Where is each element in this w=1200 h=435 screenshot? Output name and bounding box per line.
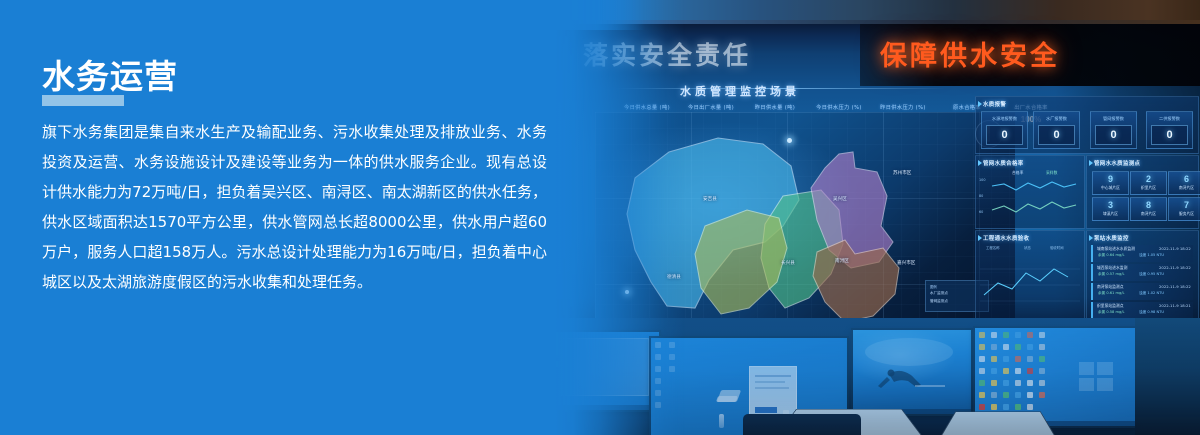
log-value-1: 余氯 0.57 mg/L bbox=[1098, 272, 1124, 277]
alarm-value: 0 bbox=[1038, 125, 1075, 145]
pass-rate-line-chart bbox=[990, 176, 1080, 224]
log-timestamp: 2022-11-9 18:22 bbox=[1159, 246, 1191, 251]
desktop-icon[interactable] bbox=[669, 342, 675, 348]
alarm-value: 0 bbox=[986, 125, 1023, 145]
kpi-label: 今日出厂水量 (吨) bbox=[674, 104, 748, 111]
map-district-nanxun[interactable] bbox=[803, 230, 918, 320]
kpi-label: 今日供水总量 (吨) bbox=[610, 104, 684, 111]
log-title: 城南泵站进水水质监测 bbox=[1097, 246, 1135, 252]
desktop-icon[interactable] bbox=[655, 402, 661, 408]
panel-title: 管网水水质监测点 bbox=[1094, 159, 1140, 167]
alarm-value: 0 bbox=[1095, 125, 1132, 145]
alarm-card[interactable]: 水源地报警数 0 bbox=[981, 111, 1028, 149]
log-title: 城西泵站进水监测 bbox=[1097, 265, 1127, 271]
chart-axis-tick: 60 bbox=[979, 210, 983, 214]
kpi-label: 昨日供水压力 (%) bbox=[866, 104, 940, 111]
map-label-anji: 安吉县 bbox=[703, 196, 717, 202]
panel-title: 管网水质合格率 bbox=[983, 159, 1024, 167]
log-timestamp: 2022-11-9 18:22 bbox=[1159, 284, 1191, 289]
intro-text-block: 水务运营 旗下水务集团是集自来水生产及输配业务、污水收集处理及排放业务、水务投资… bbox=[0, 0, 580, 435]
desktop-icon[interactable] bbox=[669, 366, 675, 372]
monitor-underwater[interactable] bbox=[851, 328, 973, 416]
desktop-icon-folder[interactable] bbox=[979, 392, 985, 398]
log-value-1: 余氯 0.64 mg/L bbox=[1098, 253, 1124, 258]
desktop-icon[interactable] bbox=[1003, 404, 1009, 410]
water-operations-banner: 落实安全责任 保障供水安全 水质管理监控场景 今日供水总量 (吨) 今日出厂水量… bbox=[0, 0, 1200, 435]
table-column-header: 工程名称 bbox=[986, 245, 1000, 250]
desktop-icon[interactable] bbox=[1027, 356, 1033, 362]
desktop-icon[interactable] bbox=[1015, 392, 1021, 398]
map-label-nanxun: 南浔区 bbox=[835, 258, 849, 264]
desktop-icon[interactable] bbox=[1039, 380, 1045, 386]
map-label-wuxing: 吴兴区 bbox=[833, 196, 847, 202]
log-timestamp: 2022-11-9 18:22 bbox=[1159, 265, 1191, 270]
right-dark-wall bbox=[1135, 318, 1200, 435]
monitor-point-label: 服务片区 bbox=[1169, 211, 1200, 217]
desktop-icon[interactable] bbox=[669, 354, 675, 360]
panel-pass-rate[interactable]: 管网水质合格率 合格率 采样数 100 80 60 bbox=[975, 155, 1085, 229]
panel-arrow-icon bbox=[978, 235, 982, 241]
desktop-icon[interactable] bbox=[1015, 356, 1021, 362]
desktop-icon[interactable] bbox=[991, 368, 997, 374]
desktop-icon[interactable] bbox=[1003, 392, 1009, 398]
desktop-icon[interactable] bbox=[1027, 404, 1033, 410]
panel-arrow-icon bbox=[1089, 235, 1093, 241]
slogan-left: 落实安全责任 bbox=[583, 36, 751, 72]
control-room-photo: 落实安全责任 保障供水安全 水质管理监控场景 今日供水总量 (吨) 今日出厂水量… bbox=[555, 0, 1200, 435]
dialog-line bbox=[755, 375, 791, 377]
map-highlight-dot bbox=[787, 138, 792, 143]
operator-desk-row bbox=[555, 318, 1200, 435]
monitor-point-cell[interactable]: 2 织里片区 bbox=[1130, 171, 1167, 195]
desktop-icon[interactable] bbox=[1039, 332, 1045, 338]
alarm-label: 二供报警数 bbox=[1147, 116, 1192, 122]
monitor-point-label: 织里片区 bbox=[1131, 185, 1166, 191]
panel-water-quality-alarm[interactable]: 水质报警 水源地报警数 0 水厂报警数 0 管网报警数 0 二供报警数 bbox=[975, 96, 1199, 154]
log-value-1: 余氯 0.58 mg/L bbox=[1098, 310, 1124, 315]
map-highlight-dot bbox=[625, 290, 629, 294]
alarm-label: 水厂报警数 bbox=[1034, 116, 1079, 122]
screen-caption-line bbox=[915, 385, 945, 387]
desktop-icon[interactable] bbox=[991, 332, 997, 338]
chart-axis-tick: 100 bbox=[979, 178, 985, 182]
panel-title: 泵站水质监控 bbox=[1094, 234, 1129, 242]
title-underline bbox=[42, 95, 124, 106]
monitor-point-cell[interactable]: 6 南浔片区 bbox=[1168, 171, 1200, 195]
desktop-icon[interactable] bbox=[655, 390, 661, 396]
monitor-point-cell[interactable]: 8 南浔片区 bbox=[1130, 197, 1167, 221]
map-label-side-1: 苏州市区 bbox=[893, 170, 911, 176]
desktop-icon[interactable] bbox=[1027, 332, 1033, 338]
table-column-header: 状态 bbox=[1024, 245, 1031, 250]
panel-title: 工程通水水质验收 bbox=[983, 234, 1029, 242]
desktop-icon[interactable] bbox=[1027, 380, 1033, 386]
monitor-point-value: 8 bbox=[1131, 200, 1166, 210]
panel-monitor-points[interactable]: 管网水水质监测点 9 中心城片区 2 织里片区 6 南浔片区 3 bbox=[1086, 155, 1199, 229]
desktop-icon[interactable] bbox=[1039, 344, 1045, 350]
monitor-point-cell[interactable]: 3 埭溪片区 bbox=[1092, 197, 1129, 221]
diver-silhouette-icon bbox=[853, 330, 971, 414]
page-title: 水务运营 bbox=[42, 50, 178, 98]
alarm-card[interactable]: 水厂报警数 0 bbox=[1033, 111, 1080, 149]
folder-icon-front bbox=[716, 396, 738, 402]
led-marquee: 落实安全责任 保障供水安全 bbox=[555, 24, 1200, 86]
desktop-icon[interactable] bbox=[991, 344, 997, 350]
desktop-icon[interactable] bbox=[1039, 392, 1045, 398]
kpi-label: 今日供水压力 (%) bbox=[802, 104, 876, 111]
desktop-icon[interactable] bbox=[1003, 380, 1009, 386]
desktop-icon[interactable] bbox=[1003, 356, 1009, 362]
monitor-point-cell[interactable]: 7 服务片区 bbox=[1168, 197, 1200, 221]
desktop-icon[interactable] bbox=[979, 356, 985, 362]
desktop-icon[interactable] bbox=[1015, 368, 1021, 374]
alarm-value: 0 bbox=[1151, 125, 1188, 145]
monitor-point-value: 7 bbox=[1169, 200, 1200, 210]
desktop-icon[interactable] bbox=[979, 368, 985, 374]
desktop-icon[interactable] bbox=[1003, 332, 1009, 338]
desktop-icon-folder[interactable] bbox=[991, 404, 997, 410]
desktop-icon-folder[interactable] bbox=[991, 380, 997, 386]
desktop-icon[interactable] bbox=[655, 378, 661, 384]
alarm-label: 管网报警数 bbox=[1091, 116, 1136, 122]
alarm-label: 水源地报警数 bbox=[982, 116, 1027, 122]
monitor-point-value: 9 bbox=[1093, 174, 1128, 184]
monitor-point-value: 2 bbox=[1131, 174, 1166, 184]
map-label-deqing: 德清县 bbox=[667, 274, 681, 280]
desktop-icon-folder[interactable] bbox=[1003, 368, 1009, 374]
panel-title: 水质报警 bbox=[983, 100, 1006, 108]
desktop-icon[interactable] bbox=[1015, 404, 1021, 410]
kpi-label: 昨日供水量 (吨) bbox=[738, 104, 812, 111]
desktop-icon-folder[interactable] bbox=[979, 332, 985, 338]
monitor-point-label: 中心城片区 bbox=[1093, 185, 1128, 191]
map-label-changxing: 长兴县 bbox=[781, 260, 795, 266]
desktop-icon[interactable] bbox=[1039, 356, 1045, 362]
desktop-icon[interactable] bbox=[655, 342, 661, 348]
monitor-point-label: 埭溪片区 bbox=[1093, 211, 1128, 217]
table-column-header: 验收时间 bbox=[1050, 245, 1064, 250]
desktop-icon[interactable] bbox=[655, 354, 661, 360]
log-title: 织里泵站监测点 bbox=[1097, 303, 1124, 309]
dialog-line bbox=[755, 381, 785, 383]
desktop-icon-folder[interactable] bbox=[979, 344, 985, 350]
log-value-2: 浊度 0.95 NTU bbox=[1139, 272, 1164, 277]
dialog-ok-button[interactable] bbox=[755, 407, 777, 413]
desktop-icon[interactable] bbox=[655, 366, 661, 372]
operator-chair bbox=[743, 414, 861, 435]
dialog-window[interactable] bbox=[749, 366, 797, 418]
slogan-right: 保障供水安全 bbox=[880, 34, 1060, 73]
acceptance-sparkline bbox=[980, 255, 1080, 315]
desktop-icon[interactable] bbox=[1015, 332, 1021, 338]
log-value-1: 余氯 0.61 mg/L bbox=[1098, 291, 1124, 296]
log-value-2: 浊度 1.02 NTU bbox=[1139, 291, 1164, 296]
panel-arrow-icon bbox=[978, 160, 982, 166]
map-label-side-2: 嘉兴市区 bbox=[897, 260, 915, 266]
alarm-card[interactable]: 管网报警数 0 bbox=[1090, 111, 1137, 149]
water-bottle bbox=[719, 414, 724, 428]
desktop-icon[interactable] bbox=[979, 404, 985, 410]
desktop-icon[interactable] bbox=[991, 392, 997, 398]
desktop-icon[interactable] bbox=[1027, 344, 1033, 350]
monitor-point-value: 3 bbox=[1093, 200, 1128, 210]
intro-paragraph: 旗下水务集团是集自来水生产及输配业务、污水收集处理及排放业务、水务投资及运营、水… bbox=[42, 117, 547, 297]
alarm-card[interactable]: 二供报警数 0 bbox=[1146, 111, 1193, 149]
panel-project-acceptance[interactable]: 工程通水水质验收 工程名称 状态 验收时间 bbox=[975, 230, 1085, 322]
log-timestamp: 2022-11-9 18:21 bbox=[1159, 303, 1191, 308]
windows-logo-icon bbox=[1079, 362, 1113, 392]
desktop-icon[interactable] bbox=[1003, 344, 1009, 350]
log-value-2: 浊度 1.05 NTU bbox=[1139, 253, 1164, 258]
desktop-icon[interactable] bbox=[979, 380, 985, 386]
monitor-point-value: 6 bbox=[1169, 174, 1200, 184]
desktop-icon[interactable] bbox=[1015, 344, 1021, 350]
dashboard-right-panels: 水质报警 水源地报警数 0 水厂报警数 0 管网报警数 0 二供报警数 bbox=[975, 96, 1200, 320]
desktop-icon[interactable] bbox=[1027, 392, 1033, 398]
keyboard[interactable] bbox=[940, 412, 1055, 435]
log-value-2: 浊度 0.98 NTU bbox=[1139, 310, 1164, 315]
dialog-line bbox=[755, 387, 789, 389]
log-title: 南浔泵站监测点 bbox=[1097, 284, 1124, 290]
desktop-icon[interactable] bbox=[1015, 380, 1021, 386]
district-map[interactable]: 安吉县 长兴县 德清县 吴兴区 南浔区 苏州市区 嘉兴市区 图例 水厂监测点 管… bbox=[595, 112, 1015, 320]
monitor-point-label: 南浔片区 bbox=[1131, 211, 1166, 217]
panel-station-log[interactable]: 泵站水质监控 城南泵站进水水质监测 余氯 0.64 mg/L 浊度 1.05 N… bbox=[1086, 230, 1199, 322]
chart-axis-tick: 80 bbox=[979, 194, 983, 198]
dashboard-title: 水质管理监控场景 bbox=[680, 83, 800, 99]
monitor-point-label: 南浔片区 bbox=[1169, 185, 1200, 191]
panel-arrow-icon bbox=[978, 101, 982, 107]
desktop-icon[interactable] bbox=[1027, 368, 1033, 374]
desktop-icon[interactable] bbox=[1039, 368, 1045, 374]
monitor-point-cell[interactable]: 9 中心城片区 bbox=[1092, 171, 1129, 195]
desktop-icon-folder[interactable] bbox=[991, 356, 997, 362]
panel-arrow-icon bbox=[1089, 160, 1093, 166]
